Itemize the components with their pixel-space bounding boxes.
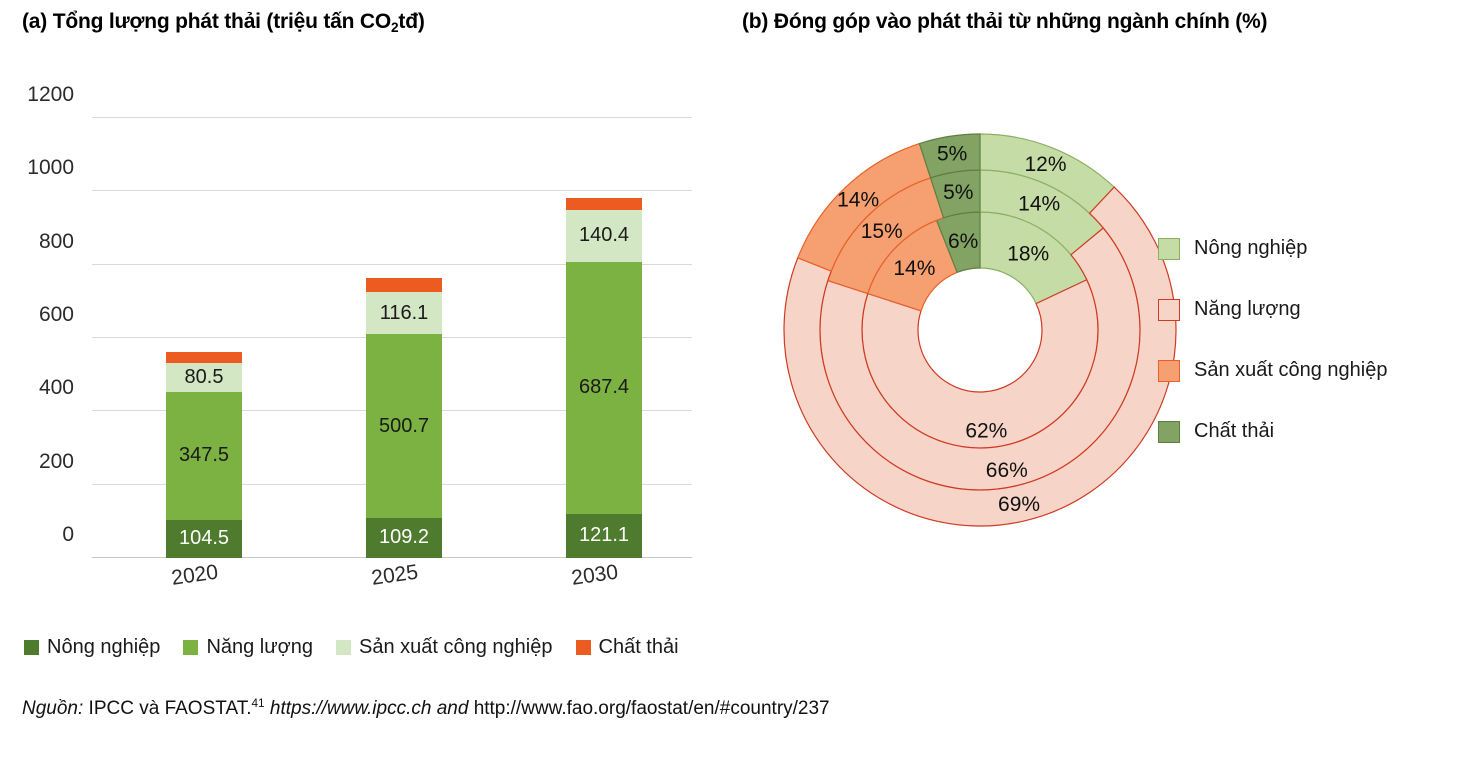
bar-stack-2020[interactable]: 80.5347.5104.5	[166, 352, 242, 558]
y-axis-tick-label: 400	[0, 376, 74, 400]
source-label: Nguồn:	[22, 698, 83, 719]
sector-contribution-donut-chart: 18%62%14%6%14%66%15%5%12%69%14%5%	[780, 130, 1180, 530]
x-axis-tick-2025: 2025	[370, 560, 420, 590]
donut-slice-label: 14%	[837, 189, 879, 212]
donut-slice-label: 6%	[948, 230, 978, 253]
bar-chart-legend: Nông nghiệpNăng lượngSản xuất công nghiệ…	[24, 636, 693, 659]
bar-segment-indus[interactable]: 80.5	[166, 363, 242, 393]
donut-legend-label: Sản xuất công nghiệp	[1194, 359, 1388, 382]
donut-legend-item-4[interactable]: Chất thải	[1158, 401, 1388, 462]
donut-slice-label: 12%	[1025, 153, 1067, 176]
y-axis-tick-label: 1200	[0, 83, 74, 107]
bar-segment-energy[interactable]: 347.5	[166, 392, 242, 519]
donut-legend-item-1[interactable]: Nông nghiệp	[1158, 218, 1388, 279]
bar-value-label: 500.7	[379, 415, 429, 438]
bar-segment-waste[interactable]	[366, 278, 442, 292]
y-axis-tick-label: 800	[0, 230, 74, 254]
donut-legend-label: Nông nghiệp	[1194, 237, 1307, 260]
bar-legend-label: Chất thải	[599, 636, 679, 659]
bar-value-label: 104.5	[179, 527, 229, 550]
donut-slice-label: 62%	[965, 419, 1007, 442]
gridline	[92, 190, 692, 191]
legend-swatch-icon	[1158, 299, 1180, 321]
bar-segment-indus[interactable]: 116.1	[366, 292, 442, 335]
x-axis-tick-2030: 2030	[570, 560, 620, 590]
bar-value-label: 121.1	[579, 524, 629, 547]
donut-legend-item-2[interactable]: Năng lượng	[1158, 279, 1388, 340]
legend-swatch-icon	[1158, 421, 1180, 443]
bar-stack-2025[interactable]: 116.1500.7109.2	[366, 278, 442, 558]
donut-legend-label: Năng lượng	[1194, 298, 1301, 321]
source-note: Nguồn: IPCC và FAOSTAT.41 https://www.ip…	[22, 698, 830, 720]
donut-chart-legend: Nông nghiệpNăng lượngSản xuất công nghiệ…	[1158, 218, 1388, 462]
panel-a-title: (a) Tổng lượng phát thải (triệu tấn CO2t…	[22, 8, 722, 36]
bar-legend-item-4[interactable]: Chất thải	[576, 636, 679, 659]
panel-a-title-suffix: tđ)	[398, 10, 424, 33]
bar-plot-area: 02004006008001000120080.5347.5104.5116.1…	[92, 118, 692, 558]
donut-slice-label: 14%	[893, 257, 935, 280]
bar-segment-agri[interactable]: 121.1	[566, 514, 642, 558]
legend-swatch-icon	[183, 640, 198, 655]
bar-value-label: 347.5	[179, 444, 229, 467]
donut-legend-label: Chất thải	[1194, 420, 1274, 443]
legend-swatch-icon	[336, 640, 351, 655]
bar-legend-label: Nông nghiệp	[47, 636, 160, 659]
source-url-fao: http://www.fao.org/faostat/en/#country/2…	[474, 698, 830, 719]
bar-segment-waste[interactable]	[566, 198, 642, 210]
legend-swatch-icon	[1158, 360, 1180, 382]
bar-value-label: 140.4	[579, 224, 629, 247]
bar-segment-energy[interactable]: 500.7	[366, 334, 442, 518]
donut-svg: 18%62%14%6%14%66%15%5%12%69%14%5%	[780, 130, 1180, 530]
y-axis-tick-label: 0	[0, 523, 74, 547]
bar-legend-item-2[interactable]: Năng lượng	[183, 636, 313, 659]
legend-swatch-icon	[576, 640, 591, 655]
y-axis-tick-label: 1000	[0, 156, 74, 180]
source-orgs: IPCC và FAOSTAT.	[83, 698, 251, 719]
bar-segment-agri[interactable]: 104.5	[166, 520, 242, 558]
co2-subscript: 2	[391, 20, 398, 35]
emissions-stacked-bar-chart: 02004006008001000120080.5347.5104.5116.1…	[0, 105, 740, 605]
bar-segment-agri[interactable]: 109.2	[366, 518, 442, 558]
donut-slice-label: 18%	[1007, 243, 1049, 266]
panel-a-title-text: (a) Tổng lượng phát thải (triệu tấn CO	[22, 10, 391, 33]
donut-slice-label: 5%	[943, 181, 973, 204]
bar-segment-indus[interactable]: 140.4	[566, 210, 642, 261]
y-axis-tick-label: 200	[0, 450, 74, 474]
bar-value-label: 109.2	[379, 526, 429, 549]
bar-segment-waste[interactable]	[166, 352, 242, 363]
source-footnote-marker: 41	[252, 697, 265, 710]
bar-segment-energy[interactable]: 687.4	[566, 262, 642, 514]
bar-stack-2030[interactable]: 140.4687.4121.1	[566, 198, 642, 558]
source-url-ipcc: https://www.ipcc.ch and	[265, 698, 474, 719]
donut-slice-label: 15%	[861, 220, 903, 243]
donut-slice-label: 66%	[986, 459, 1028, 482]
y-axis-tick-label: 600	[0, 303, 74, 327]
x-axis-tick-2020: 2020	[170, 560, 220, 590]
donut-legend-item-3[interactable]: Sản xuất công nghiệp	[1158, 340, 1388, 401]
bar-legend-item-3[interactable]: Sản xuất công nghiệp	[336, 636, 553, 659]
donut-slice-label: 14%	[1018, 193, 1060, 216]
bar-value-label: 687.4	[579, 376, 629, 399]
bar-legend-label: Năng lượng	[206, 636, 313, 659]
gridline	[92, 117, 692, 118]
panel-b-title: (b) Đóng góp vào phát thải từ những ngàn…	[742, 8, 1442, 36]
bar-legend-item-1[interactable]: Nông nghiệp	[24, 636, 160, 659]
bar-value-label: 80.5	[185, 366, 224, 389]
donut-slice-label: 5%	[937, 143, 967, 166]
bar-value-label: 116.1	[380, 302, 429, 325]
donut-slice-label: 69%	[998, 493, 1040, 516]
bar-legend-label: Sản xuất công nghiệp	[359, 636, 553, 659]
legend-swatch-icon	[24, 640, 39, 655]
legend-swatch-icon	[1158, 238, 1180, 260]
